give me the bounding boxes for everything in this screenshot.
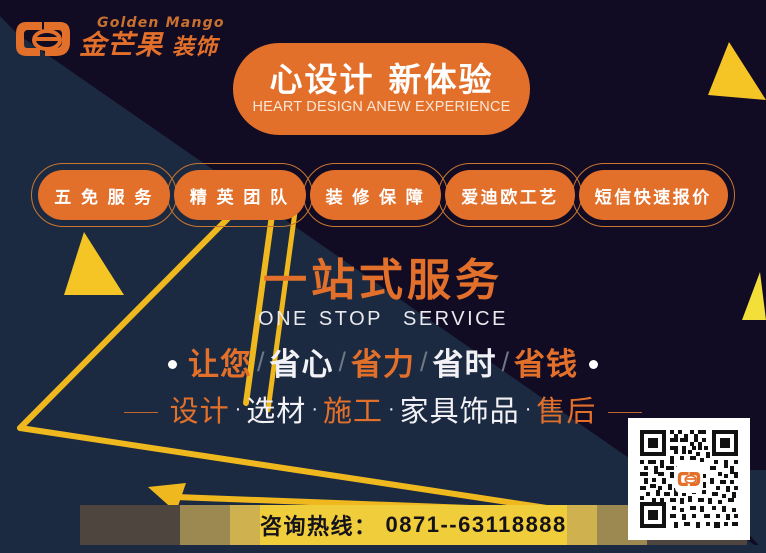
- feature-item-5: 短信快速报价: [579, 170, 728, 220]
- qr-canvas: [636, 426, 742, 532]
- feature-item-2: 精 英 团 队: [174, 170, 306, 220]
- bullet-dot-left: [168, 360, 177, 369]
- benefits-row: 让您 / 省心 / 省力 / 省时 / 省钱: [0, 349, 766, 380]
- hotline-bar-seg-dark-left: [80, 505, 180, 545]
- hotline-bar: 咨询热线：0871--63118888: [80, 505, 686, 545]
- feature-button-row: 五 免 服 务 精 英 团 队 装 修 保 障 爱迪欧工艺 短信快速报价: [0, 170, 766, 220]
- hotline-bar-seg-gold-left: [230, 505, 260, 545]
- feature-item-3: 装 修 保 障: [310, 170, 442, 220]
- onestop-chinese: 一站式服务: [0, 258, 766, 304]
- headline-cn-left: 心设计: [270, 61, 375, 98]
- onestop-en-1: ONE: [258, 308, 309, 330]
- bullet-dot-right: [589, 360, 598, 369]
- feature-item-1: 五 免 服 务: [38, 170, 170, 220]
- logo-chinese-name: 金芒果: [79, 32, 163, 59]
- feature-button-zhuangxiu-baozhang[interactable]: 装 修 保 障: [310, 170, 442, 220]
- headline-banner: 心设计新体验 HEART DESIGN ANEW EXPERIENCE: [233, 43, 530, 135]
- rule-left: [124, 412, 158, 413]
- logo-chinese-sub: 装饰: [172, 37, 218, 59]
- promo-poster: Golden Mango 金芒果 装饰 心设计新体验 HEART DESIGN …: [0, 0, 766, 553]
- onestop-english: ONESTOPSERVICE: [0, 308, 766, 331]
- benefit-3: 省力: [351, 349, 415, 380]
- brand-logo[interactable]: Golden Mango 金芒果 装饰: [14, 16, 225, 60]
- hotline-label: 咨询热线：: [260, 509, 378, 541]
- service-4: 家具饰品: [400, 398, 520, 427]
- benefit-5: 省钱: [514, 349, 578, 380]
- benefit-separator-4: /: [502, 347, 510, 378]
- benefit-1: 让您: [188, 349, 252, 380]
- headline-cn-right: 新体验: [389, 61, 494, 98]
- benefit-separator-3: /: [420, 347, 428, 378]
- service-5: 售后: [536, 398, 596, 427]
- benefit-separator-1: /: [257, 347, 265, 378]
- service-separator-1: ·: [235, 398, 242, 421]
- benefit-4: 省时: [433, 349, 497, 380]
- service-separator-4: ·: [525, 398, 532, 421]
- onestop-block: 一站式服务 ONESTOPSERVICE: [0, 258, 766, 331]
- qr-center-logo: [675, 465, 703, 493]
- feature-item-4: 爱迪欧工艺: [445, 170, 575, 220]
- onestop-en-2: STOP: [319, 308, 383, 330]
- feature-button-jingying-tuandui[interactable]: 精 英 团 队: [174, 170, 306, 220]
- hotline-bar-seg-gold-right: [567, 505, 597, 545]
- hotline-bar-seg-tan-left: [180, 505, 230, 545]
- feature-button-aidiou-gongyi[interactable]: 爱迪欧工艺: [445, 170, 575, 220]
- service-separator-3: ·: [388, 398, 395, 421]
- golden-mango-g-icon: [14, 18, 72, 60]
- service-2: 选材: [246, 398, 306, 427]
- hotline-text[interactable]: 咨询热线：0871--63118888: [260, 505, 567, 545]
- golden-mango-g-icon: [677, 470, 701, 488]
- service-separator-2: ·: [311, 398, 318, 421]
- logo-english-name: Golden Mango: [97, 16, 225, 30]
- service-3: 施工: [323, 398, 383, 427]
- wechat-qr-code[interactable]: [628, 418, 750, 540]
- onestop-en-3: SERVICE: [403, 308, 508, 330]
- hotline-number: 0871--63118888: [386, 512, 567, 538]
- service-1: 设计: [170, 398, 230, 427]
- feature-button-duanxin-baojia[interactable]: 短信快速报价: [579, 170, 728, 220]
- headline-english: HEART DESIGN ANEW EXPERIENCE: [252, 99, 510, 115]
- feature-button-wumian-fuwu[interactable]: 五 免 服 务: [38, 170, 170, 220]
- rule-right: [608, 412, 642, 413]
- bg-bottom-strip: [0, 545, 766, 553]
- headline-chinese: 心设计新体验: [270, 63, 494, 98]
- benefit-2: 省心: [269, 349, 333, 380]
- benefit-separator-2: /: [338, 347, 346, 378]
